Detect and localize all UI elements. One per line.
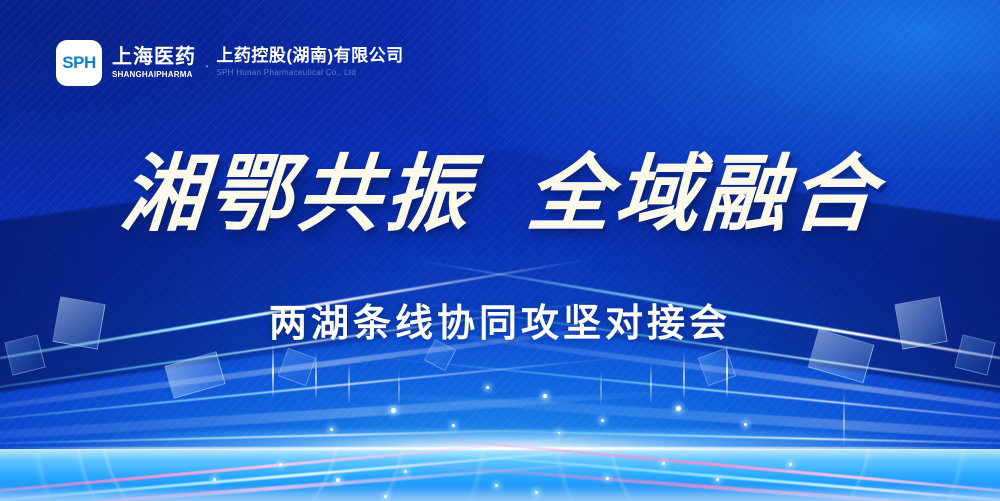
headline: 湘鄂共振 全域融合 [0,152,1000,236]
light-pole-left-1 [272,344,274,396]
particle [391,408,396,413]
particle [384,495,387,498]
logo-separator-dot: · [205,58,209,73]
particle [404,470,407,473]
brand-name-block: 上海医药 SHANGHAIPHARMA [112,47,196,80]
event-banner: SPH 上海医药 SHANGHAIPHARMA · 上药控股(湖南)有限公司 S… [0,0,1000,501]
company-name-en: SPH Hunan Pharmaceutical Co., Ltd [216,68,403,78]
light-pole-left-3 [348,362,350,402]
light-pole-right-3 [650,362,652,402]
particle [535,491,538,494]
particle [495,484,498,487]
sph-logo-icon: SPH [56,40,102,86]
particle [486,386,489,389]
particle [543,394,547,398]
company-logo[interactable]: SPH 上海医药 SHANGHAIPHARMA · 上药控股(湖南)有限公司 S… [56,40,404,86]
particle [213,478,216,481]
particle [662,462,665,465]
event-subtitle: 两湖条线协同攻坚对接会 [0,292,1000,347]
headline-part-1: 湘鄂共振 [118,152,476,236]
particle [330,428,333,431]
particle [716,478,719,481]
brand-name-en: SHANGHAIPHARMA [112,70,196,80]
particle [336,478,340,482]
horizon-line [0,447,1000,450]
light-pole-left-2 [315,352,317,398]
headline-part-2: 全域融合 [525,152,883,236]
company-name-block: 上药控股(湖南)有限公司 SPH Hunan Pharmaceutical Co… [216,47,403,78]
particle [789,463,792,466]
particle [452,424,455,427]
light-pole-right-2 [683,352,685,398]
particle [744,423,747,426]
particle [601,419,604,422]
particle [676,406,681,411]
light-pole-left-4 [398,370,400,404]
light-pole-right-4 [600,370,602,404]
sph-logo-text: SPH [62,53,95,73]
particle [606,477,609,480]
brand-name-cn: 上海医药 [112,47,196,68]
particle [558,432,560,434]
company-name-cn: 上药控股(湖南)有限公司 [216,47,403,66]
bottom-haze-strip [0,485,1000,501]
particle [279,463,282,466]
light-pole-right-1 [726,344,728,396]
